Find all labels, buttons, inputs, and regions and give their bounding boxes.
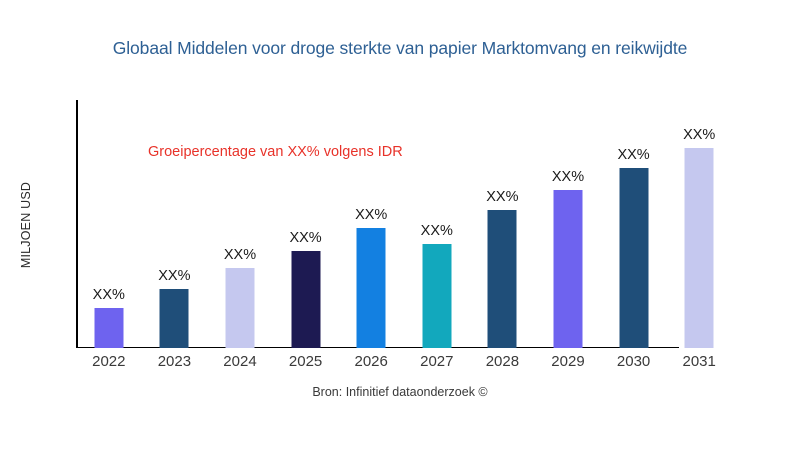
bar-group: XX%	[404, 100, 470, 348]
x-tick-label-2030: 2030	[601, 353, 667, 370]
bar-group: XX%	[470, 100, 536, 348]
bar-value-label: XX%	[683, 127, 715, 143]
x-tick-label-2031: 2031	[666, 353, 732, 370]
bar-group: XX%	[207, 100, 273, 348]
x-tick-label-2025: 2025	[273, 353, 339, 370]
x-tick-label-2029: 2029	[535, 353, 601, 370]
bar[interactable]	[553, 190, 582, 348]
x-tick-label-2028: 2028	[470, 353, 536, 370]
bar[interactable]	[291, 251, 320, 348]
y-axis-title-label: MILJOEN USD	[19, 182, 33, 268]
bar-value-label: XX%	[289, 230, 321, 246]
x-axis-tick-labels: 2022202320242025202620272028202920302031	[76, 353, 732, 377]
bar-group: XX%	[535, 100, 601, 348]
bar-value-label: XX%	[552, 169, 584, 185]
x-tick-label-2027: 2027	[404, 353, 470, 370]
bar-value-label: XX%	[617, 147, 649, 163]
bar-group: XX%	[273, 100, 339, 348]
bar[interactable]	[685, 148, 714, 348]
bar-value-label: XX%	[421, 223, 453, 239]
chart-container: Globaal Middelen voor droge sterkte van …	[0, 0, 800, 450]
bar-value-label: XX%	[224, 247, 256, 263]
bar[interactable]	[422, 244, 451, 349]
bar-group: XX%	[601, 100, 667, 348]
bar[interactable]	[94, 308, 123, 348]
bar[interactable]	[357, 228, 386, 348]
bar[interactable]	[160, 289, 189, 348]
x-tick-label-2022: 2022	[76, 353, 142, 370]
growth-rate-annotation: Groeipercentage van XX% volgens IDR	[148, 144, 403, 160]
y-axis-title: MILJOEN USD	[16, 100, 36, 350]
bar[interactable]	[225, 268, 254, 348]
bar-group: XX%	[338, 100, 404, 348]
bar-series: XX%XX%XX%XX%XX%XX%XX%XX%XX%XX%	[76, 100, 732, 348]
source-note: Bron: Infinitief dataonderzoek ©	[0, 385, 800, 399]
x-tick-label-2024: 2024	[207, 353, 273, 370]
bar-value-label: XX%	[355, 207, 387, 223]
bar-value-label: XX%	[486, 189, 518, 205]
bar-group: XX%	[666, 100, 732, 348]
x-tick-label-2026: 2026	[338, 353, 404, 370]
bar[interactable]	[488, 210, 517, 348]
x-tick-label-2023: 2023	[142, 353, 208, 370]
bar-group: XX%	[76, 100, 142, 348]
page-title: Globaal Middelen voor droge sterkte van …	[0, 38, 800, 59]
bar-group: XX%	[142, 100, 208, 348]
bar[interactable]	[619, 168, 648, 348]
plot-area: XX%XX%XX%XX%XX%XX%XX%XX%XX%XX%	[76, 100, 732, 348]
bar-value-label: XX%	[158, 268, 190, 284]
bar-value-label: XX%	[93, 287, 125, 303]
